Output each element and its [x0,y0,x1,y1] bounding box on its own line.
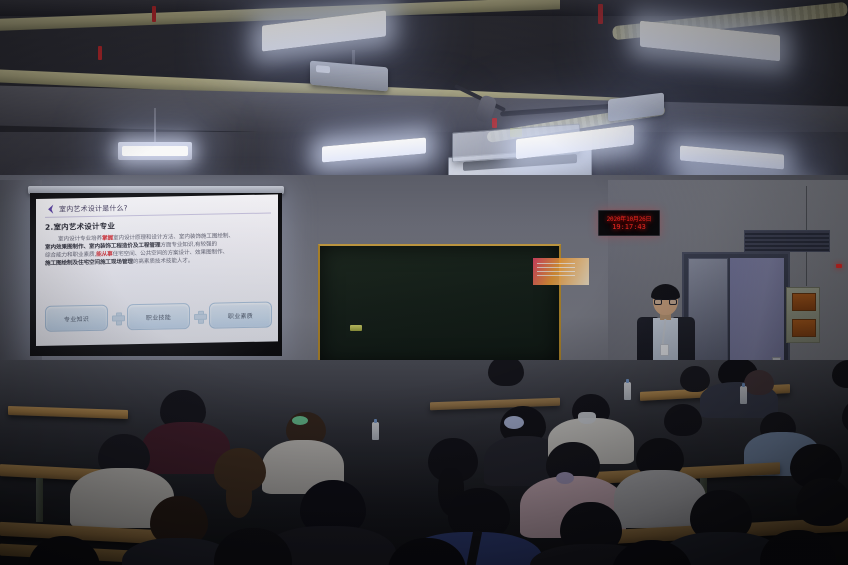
panel-window-bottom [792,319,816,337]
green-chalkboard [318,244,561,366]
fire-alarm-panel[interactable] [786,287,820,343]
slide-text-run: 方面专业知识,有较强的 [160,242,217,249]
slide-body: 室内设计专业培养掌握室内设计原理和设计方法、室内装饰施工图绘制、室内效果图制作、… [45,231,271,268]
student-head [796,478,848,526]
student-audience [0,360,848,565]
slide-title: 室内艺术设计是什么? [59,203,128,214]
slide-subtitle: 2.室内艺术设计专业 [45,217,271,232]
presenter-hair [651,284,680,300]
plus-icon [194,310,205,321]
pendant-light-1 [118,108,192,160]
hair-scrunchie [504,416,524,429]
student-head [744,370,774,395]
door-transom-vent [744,230,830,252]
slide-text-run: 住宅空间、公共空间的方案设计、效果图制作、 [113,250,228,258]
desk-leg [36,478,43,522]
projector-lens [316,65,330,73]
wall-poster [533,258,589,285]
led-clock-time: 19:17:43 [612,224,646,231]
water-bottle [624,382,631,400]
slide-text-run: 综合能力和职业素质, [45,252,96,259]
sprinkler-hanger [492,118,497,128]
slide-text-run: 室内设计专业培养 [58,236,102,243]
board-eraser [350,325,362,331]
presenter-id-badge [660,344,669,356]
hair-scrunchie [556,472,574,484]
water-bottle [740,386,747,404]
slide-text-run: 的高素质技术技能人才。 [133,258,193,265]
water-bottle [372,422,379,440]
student-head [488,360,524,386]
slide-concept-boxes: 专业知识 职业技能 职业素质 [45,301,272,331]
led-clock-display: 2020年10月26日 19:17:43 [598,210,660,236]
concept-box-1: 专业知识 [45,305,108,332]
led-clock-date: 2020年10月26日 [607,216,652,223]
projection-screen: 室内艺术设计是什么? 2.室内艺术设计专业 室内设计专业培养掌握室内设计原理和设… [30,193,282,356]
exit-indicator-light [836,264,842,268]
lecture-hall-photo: 室内艺术设计是什么? 2.室内艺术设计专业 室内设计专业培养掌握室内设计原理和设… [0,0,848,565]
ceiling [0,0,848,200]
concept-box-3: 职业素质 [209,301,272,328]
slide-surface: 室内艺术设计是什么? 2.室内艺术设计专业 室内设计专业培养掌握室内设计原理和设… [36,194,278,346]
sprinkler-hanger [598,4,603,24]
student-head [664,404,702,436]
slide-text-run: 施工图绘制及住宅空间施工现场管理 [45,259,133,267]
sprinkler-hanger [152,6,156,22]
plus-icon [112,312,123,323]
concept-box-2: 职业技能 [127,303,190,330]
ponytail [226,478,252,518]
hair-scrunchie [292,416,308,425]
sprinkler-hanger [98,46,102,60]
eyeglasses-icon [654,299,677,305]
slide-text-run: 能从事 [96,252,112,258]
slide-text-run: 掌握 [102,236,113,242]
student-head [680,366,710,392]
slide-header: 室内艺术设计是什么? [45,199,271,217]
face-mask [578,412,596,424]
chevron-left-icon [45,204,56,215]
panel-window-top [792,293,816,311]
